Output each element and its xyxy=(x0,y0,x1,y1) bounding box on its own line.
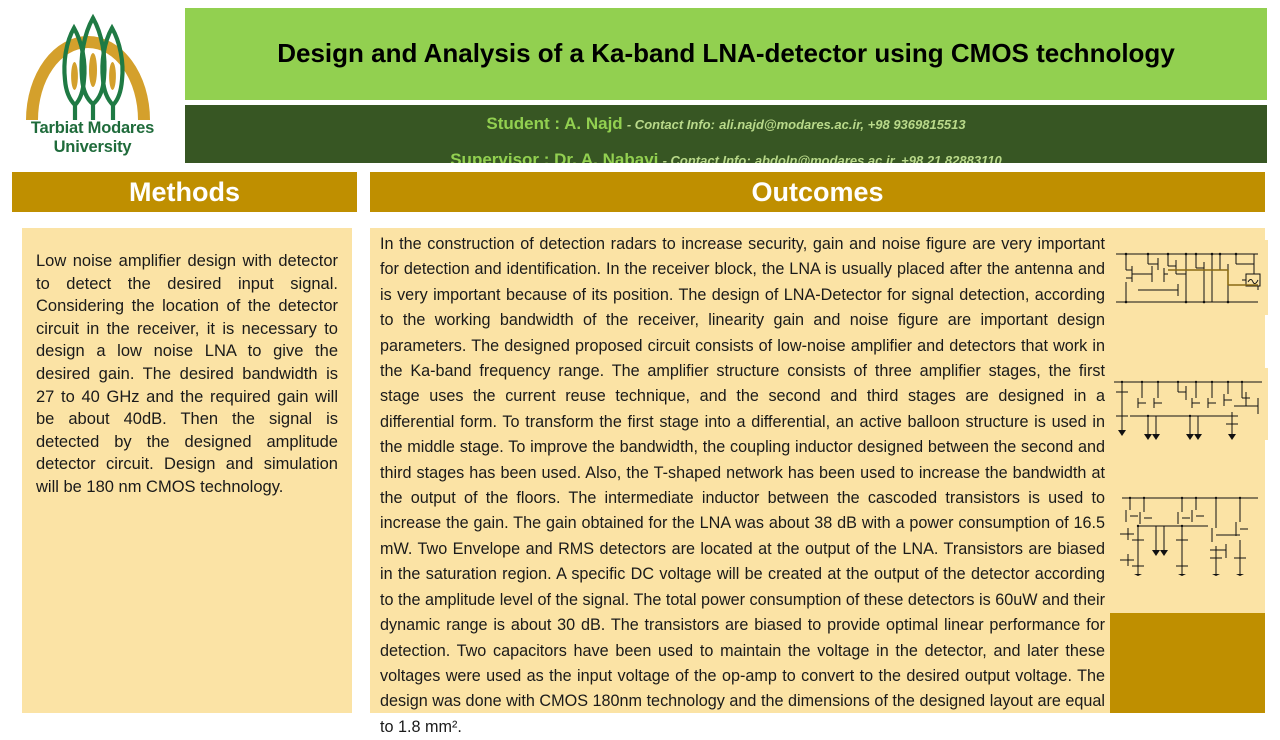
detector-schematic-figure xyxy=(1112,488,1264,576)
outcomes-body-text: In the construction of detection radars … xyxy=(380,232,1105,740)
supervisor-role-label: Supervisor : Dr. A. Nabavi xyxy=(450,150,658,163)
outcomes-heading-label: Outcomes xyxy=(751,177,883,208)
page-title: Design and Analysis of a Ka-band LNA-det… xyxy=(263,39,1189,69)
student-role-label: Student : A. Najd xyxy=(486,114,622,133)
logo-line-2: University xyxy=(0,138,185,157)
student-email-user[interactable]: ali.najd xyxy=(719,117,764,132)
outcomes-section-header: Outcomes xyxy=(370,172,1265,212)
methods-panel: Low noise amplifier design with detector… xyxy=(22,228,352,713)
student-contact-rest[interactable]: @modares.ac.ir, +98 9369815513 xyxy=(764,117,966,132)
authors-bar: Student : A. Najd - Contact Info: ali.na… xyxy=(185,105,1267,163)
supervisor-email-user[interactable]: abdoln xyxy=(755,153,798,163)
student-contact-label: - Contact Info: xyxy=(627,117,715,132)
student-line: Student : A. Najd - Contact Info: ali.na… xyxy=(185,114,1267,134)
logo-line-1: Tarbiat Modares xyxy=(31,119,154,137)
tarbiat-modares-logo-icon xyxy=(18,8,168,123)
poster-header: Tarbiat Modares University Design and An… xyxy=(0,0,1280,170)
poster-title-bar: Design and Analysis of a Ka-band LNA-det… xyxy=(185,8,1267,100)
methods-body-text: Low noise amplifier design with detector… xyxy=(22,228,352,499)
lna-amplifier-schematic-figure xyxy=(1108,240,1268,315)
methods-section-header: Methods xyxy=(12,172,357,212)
gold-accent-block xyxy=(1110,613,1265,713)
university-logo-wordmark: Tarbiat Modares University xyxy=(0,119,185,157)
supervisor-line: Supervisor : Dr. A. Nabavi - Contact Inf… xyxy=(185,150,1267,163)
differential-stage-schematic-figure xyxy=(1108,368,1268,440)
university-logo-block: Tarbiat Modares University xyxy=(0,0,185,170)
supervisor-contact-label: - Contact Info: xyxy=(663,153,751,163)
methods-heading-label: Methods xyxy=(129,177,240,208)
supervisor-contact-rest[interactable]: @modares.ac.ir, +98 21 82883110 xyxy=(797,153,1001,163)
